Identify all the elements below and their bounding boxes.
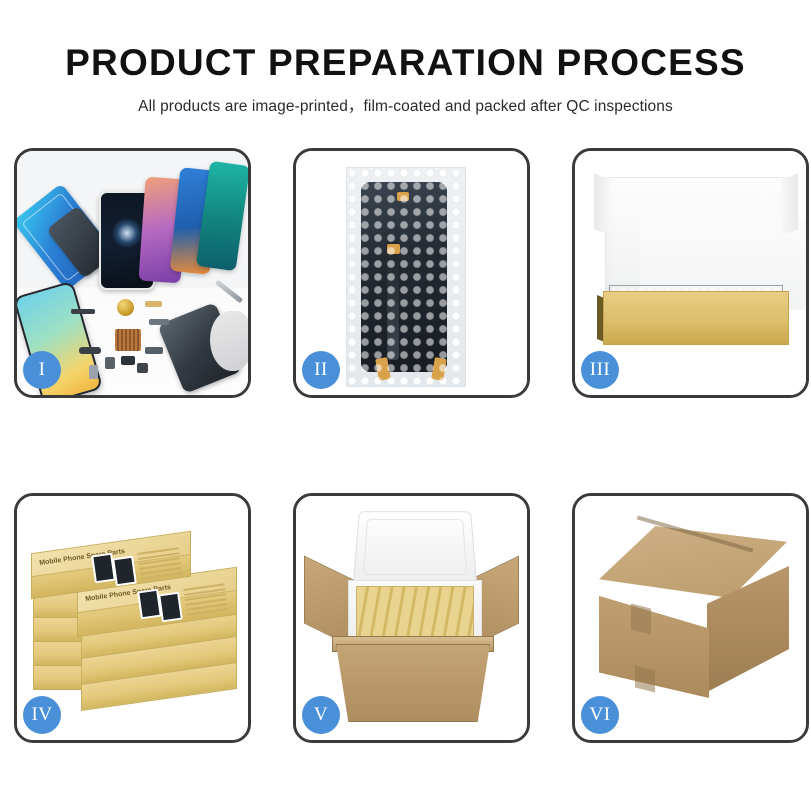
process-step-panel-5: V <box>293 493 530 743</box>
ribbon-part <box>145 347 163 354</box>
gold-contact-part <box>145 301 162 307</box>
step-badge-4: IV <box>23 696 61 734</box>
gold-coil-part <box>117 299 134 316</box>
step-badge-2: II <box>302 351 340 389</box>
step-badge-5: V <box>302 696 340 734</box>
carton-front <box>336 644 490 722</box>
carton-tape-lower <box>635 666 655 693</box>
page-subtitle: All products are image-printed，film-coat… <box>0 83 811 116</box>
speaker-part <box>137 363 148 373</box>
small-module-part <box>105 357 115 369</box>
gold-boxes-inside <box>356 586 474 642</box>
connector-part <box>79 347 101 354</box>
repair-tool <box>215 280 243 304</box>
gold-tray-body <box>603 291 789 345</box>
step-badge-6: VI <box>581 696 619 734</box>
step-badge-1: I <box>23 351 61 389</box>
process-step-panel-2: II <box>293 148 530 398</box>
box-spec-lines-2 <box>183 583 229 619</box>
box-window-2a <box>137 589 162 620</box>
white-box-lid <box>605 177 787 299</box>
box-window-1a <box>91 553 116 584</box>
box-spec-lines-1 <box>137 547 183 583</box>
header: PRODUCT PREPARATION PROCESS All products… <box>0 0 811 116</box>
flex-cable-part <box>71 309 95 314</box>
process-step-grid: I II <box>14 148 809 743</box>
chip-grid-part <box>115 329 141 351</box>
process-step-panel-4: Mobile Phone Spare Parts Mobile Phone Sp… <box>14 493 251 743</box>
battery-connector-part <box>89 365 98 379</box>
hand <box>210 311 248 371</box>
gold-box-stack: Mobile Phone Spare Parts Mobile Phone Sp… <box>23 524 248 720</box>
foam-lid <box>353 511 478 584</box>
process-step-panel-1: I <box>14 148 251 398</box>
camera-module-part <box>121 356 135 365</box>
bubble-wrap-bag <box>346 167 466 387</box>
process-step-panel-6: VI <box>572 493 809 743</box>
box-window-1b <box>112 556 137 587</box>
bracket-part <box>149 319 169 325</box>
box-window-2b <box>158 592 183 623</box>
bubble-wrap-texture <box>347 168 465 386</box>
carton-tape-upper <box>631 604 651 635</box>
page-title: PRODUCT PREPARATION PROCESS <box>0 0 811 83</box>
process-step-panel-3: III <box>572 148 809 398</box>
product-preparation-infographic: PRODUCT PREPARATION PROCESS All products… <box>0 0 811 811</box>
step-badge-3: III <box>581 351 619 389</box>
